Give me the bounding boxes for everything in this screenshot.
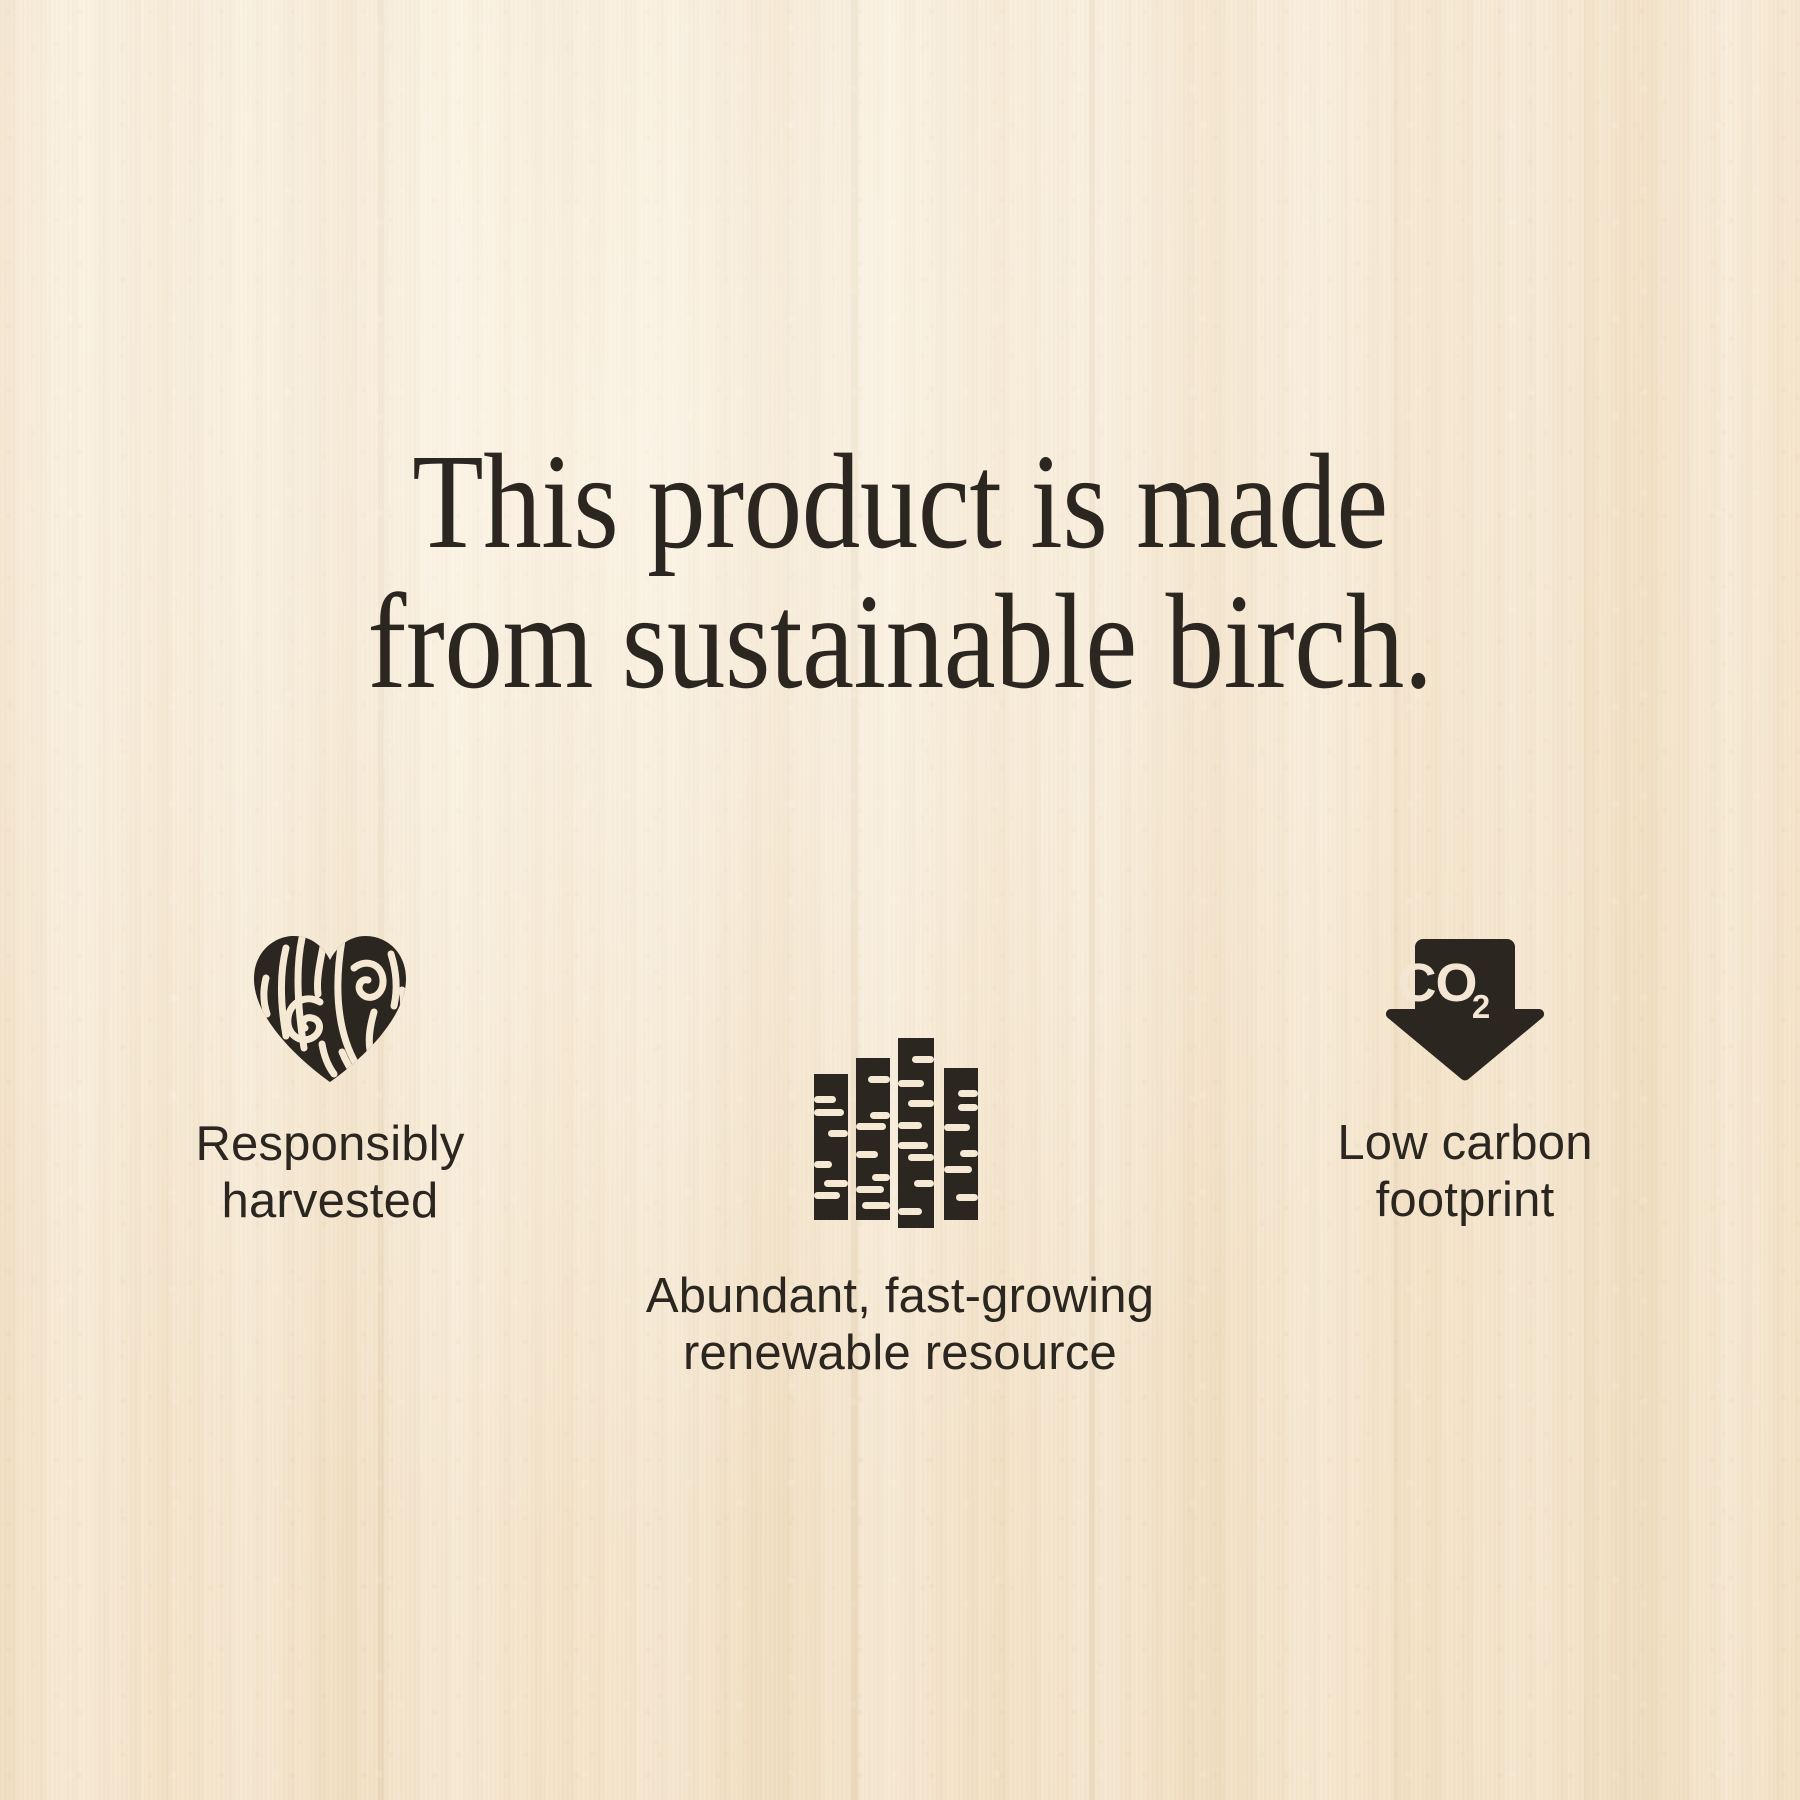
feature-abundant-renewable: Abundant, fast-growing renewable resourc… [550,1020,1250,1382]
wood-grain-heart-icon [250,932,410,1084]
feature-responsibly-harvested: Responsibly harvested [80,924,580,1230]
co2-label: CO [1398,953,1477,1013]
co2-down-arrow-icon: CO 2 [1385,933,1545,1085]
feature-caption: Abundant, fast-growing renewable resourc… [550,1268,1250,1382]
co2-subscript: 2 [1472,988,1490,1025]
feature-low-carbon-footprint: CO 2 Low carbon footprint [1215,920,1715,1229]
feature-icon-slot [550,1020,1250,1230]
feature-caption: Low carbon footprint [1215,1115,1715,1229]
feature-icon-slot [80,924,580,1084]
feature-icon-slot: CO 2 [1215,920,1715,1085]
feature-list: Responsibly harvested [0,0,1800,1800]
feature-caption: Responsibly harvested [80,1116,580,1230]
birch-trunks-icon [812,1030,988,1230]
sustainable-birch-poster: This product is made from sustainable bi… [0,0,1800,1800]
